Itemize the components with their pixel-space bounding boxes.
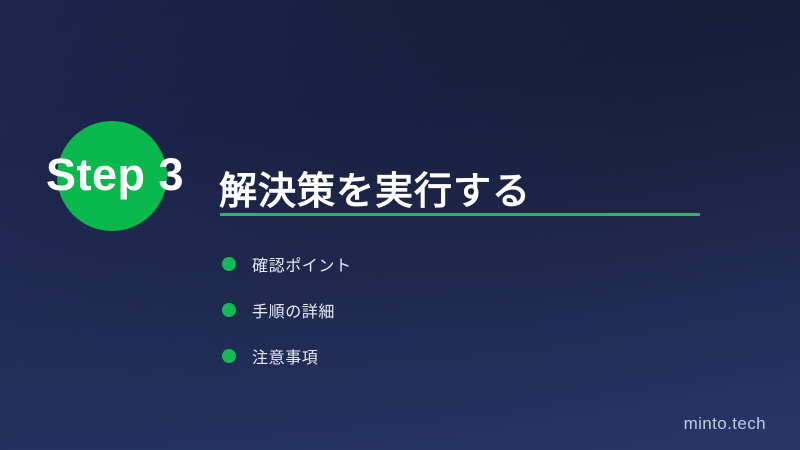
bullet-list: 確認ポイント 手順の詳細 注意事項: [222, 241, 352, 379]
slide-content: Step 3 解決策を実行する 確認ポイント 手順の詳細 注意事項 minto.…: [0, 0, 800, 450]
step-badge-label: Step 3: [46, 151, 216, 199]
bullet-item-label: 手順の詳細: [252, 298, 335, 322]
title-underline-rule: [220, 213, 700, 216]
list-item: 確認ポイント: [222, 241, 352, 287]
brand-watermark: minto.tech: [684, 414, 766, 434]
list-item: 手順の詳細: [222, 287, 352, 333]
list-item: 注意事項: [222, 333, 352, 379]
bullet-dot-icon: [222, 257, 236, 271]
bullet-item-label: 注意事項: [252, 344, 318, 368]
bullet-item-label: 確認ポイント: [252, 252, 352, 276]
slide-canvas: Step 3 解決策を実行する 確認ポイント 手順の詳細 注意事項 minto.…: [0, 0, 800, 450]
slide-title: 解決策を実行する: [219, 170, 531, 215]
bullet-dot-icon: [222, 303, 236, 317]
bullet-dot-icon: [222, 349, 236, 363]
